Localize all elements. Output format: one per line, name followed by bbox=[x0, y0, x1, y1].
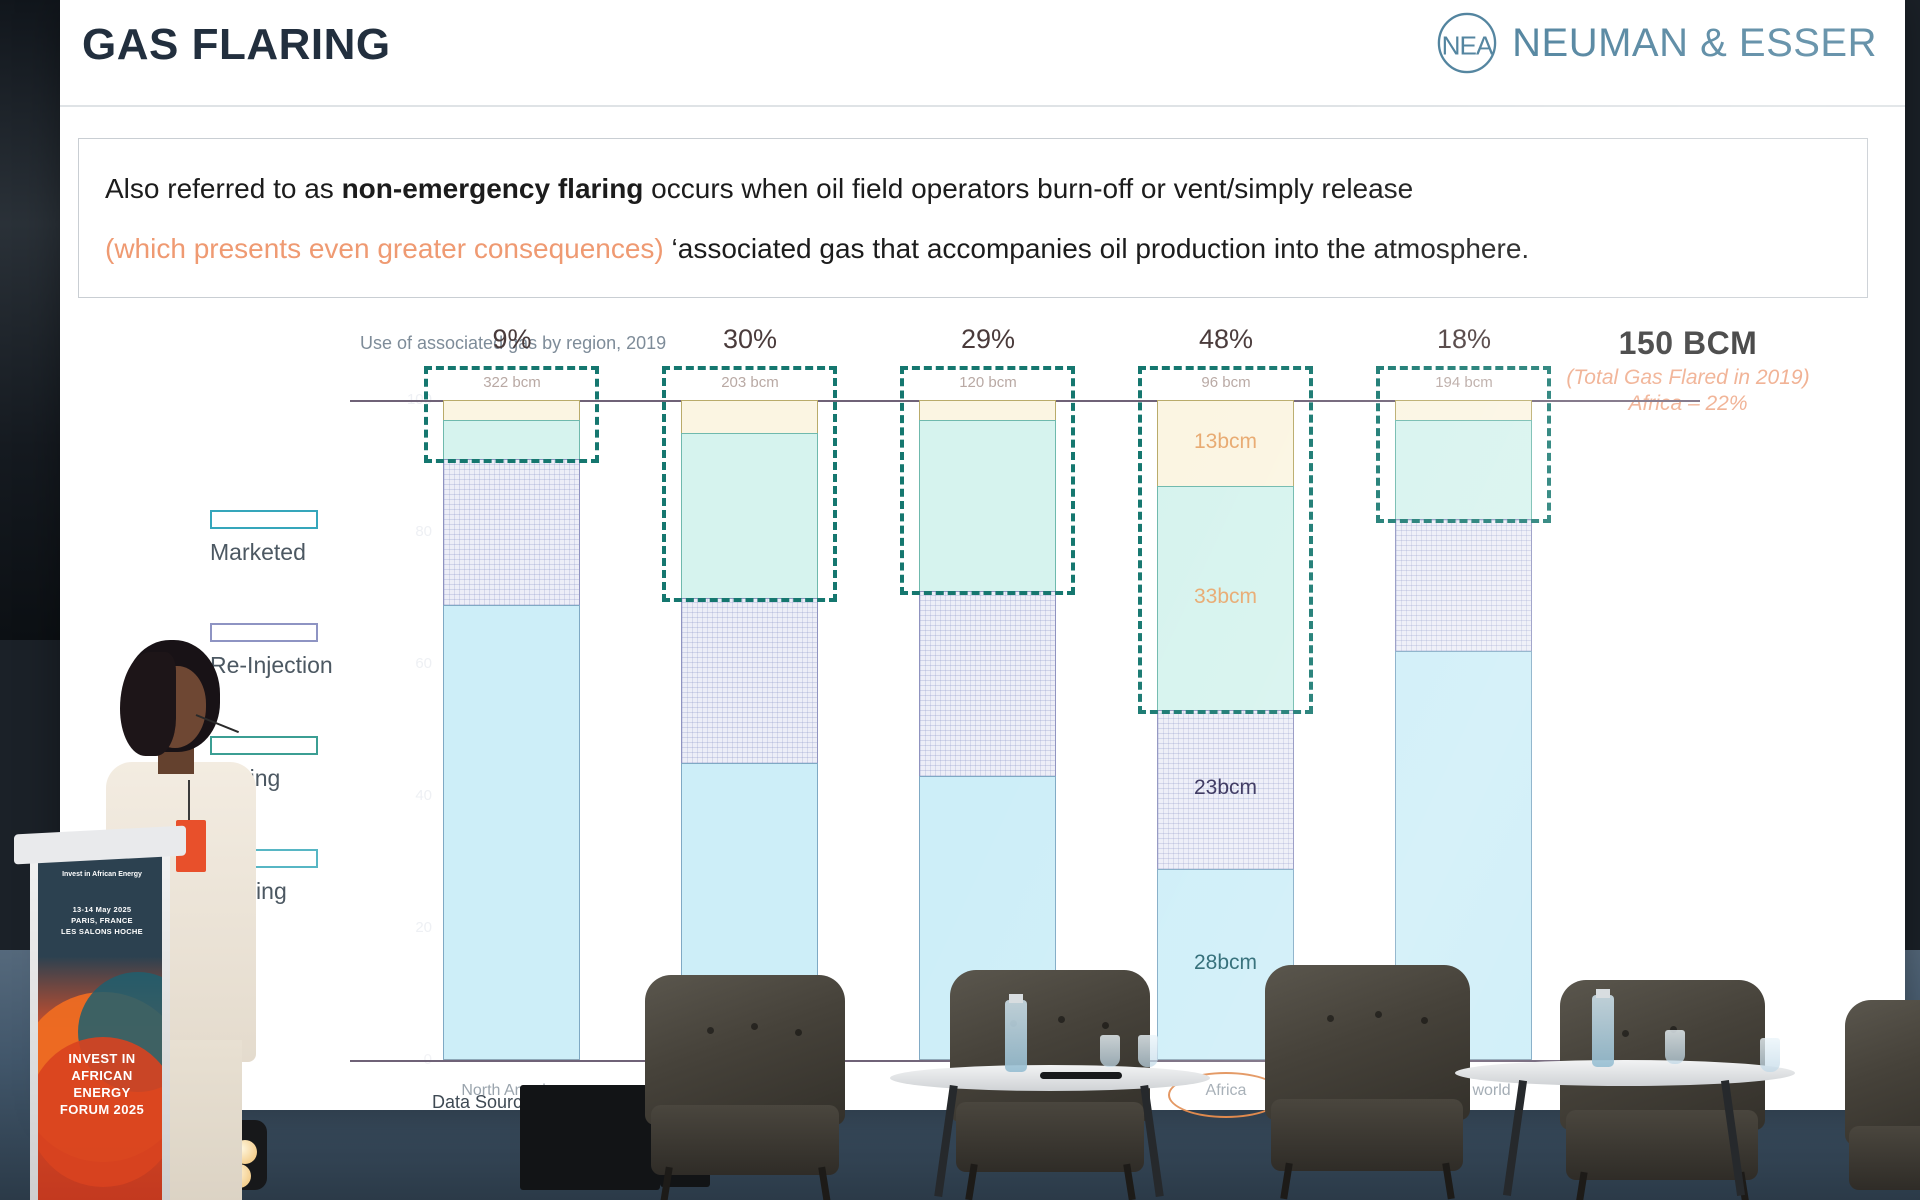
statement-line-1: Also referred to as non-emergency flarin… bbox=[105, 159, 1841, 219]
header-divider bbox=[60, 105, 1905, 107]
statement-box: Also referred to as non-emergency flarin… bbox=[78, 138, 1868, 298]
drinking-glass bbox=[1138, 1035, 1158, 1067]
drinking-glass bbox=[1760, 1038, 1780, 1072]
drinking-glass bbox=[1665, 1030, 1685, 1064]
bar-total-bcm-label: 194 bcm bbox=[1364, 374, 1564, 391]
bottle-cap bbox=[1596, 989, 1610, 998]
bar-total-bcm-label: 96 bcm bbox=[1126, 374, 1326, 391]
bar-total-bcm-label: 203 bcm bbox=[650, 374, 850, 391]
podium-event-title: INVEST IN AFRICAN ENERGY FORUM 2025 bbox=[50, 1050, 154, 1118]
bar-group bbox=[412, 400, 612, 1060]
statement-line2-highlight: (which presents even greater consequence… bbox=[105, 233, 664, 264]
slide-header: GAS FLARING NEA NEUMAN & ESSER bbox=[60, 0, 1905, 105]
water-bottle bbox=[1592, 995, 1614, 1067]
legend-swatch-icon bbox=[210, 510, 318, 529]
drinking-glass bbox=[1100, 1035, 1120, 1067]
armchair bbox=[645, 975, 845, 1200]
page-title: GAS FLARING bbox=[82, 20, 391, 70]
bar-segment-re-injection: 23bcm bbox=[1157, 710, 1294, 868]
podium-event-logo: Invest in African Energy bbox=[54, 870, 150, 879]
statement-line-2: (which presents even greater consequence… bbox=[105, 219, 1841, 279]
nea-logo: NEA NEUMAN & ESSER bbox=[1436, 12, 1877, 74]
microphone bbox=[1040, 1072, 1122, 1079]
flaring-venting-highlight-box bbox=[662, 366, 837, 602]
armchair bbox=[1265, 965, 1470, 1200]
segment-value-label: 23bcm bbox=[1158, 776, 1293, 800]
logo-wordmark: NEUMAN & ESSER bbox=[1512, 21, 1877, 66]
bottle-cap bbox=[1009, 994, 1023, 1003]
bar-total-bcm-label: 322 bcm bbox=[412, 374, 612, 391]
kpi-value: 150 BCM bbox=[1523, 325, 1853, 362]
statement-line1-part1: Also referred to as bbox=[105, 173, 342, 204]
bar-total-bcm-label: 120 bcm bbox=[888, 374, 1088, 391]
bar-segment-re-injection bbox=[681, 598, 818, 763]
bar-segment-re-injection bbox=[1395, 519, 1532, 651]
bar-percentage-label: 29% bbox=[888, 324, 1088, 355]
bar-segment-re-injection bbox=[919, 591, 1056, 776]
flaring-venting-highlight-box bbox=[900, 366, 1075, 595]
stacked-bar-chart: 100806040200322 bcm9%North America203 bc… bbox=[360, 400, 1690, 1060]
svg-text:NEA: NEA bbox=[1442, 31, 1494, 61]
water-bottle bbox=[1005, 1000, 1027, 1072]
bar-segment-marketed bbox=[443, 605, 580, 1060]
podium: Invest in African Energy 13-14 May 2025 … bbox=[20, 830, 180, 1200]
bar-percentage-label: 18% bbox=[1364, 324, 1564, 355]
nea-circle-icon: NEA bbox=[1436, 12, 1498, 74]
side-table bbox=[890, 1065, 1210, 1200]
podium-event-details: 13-14 May 2025 PARIS, FRANCE LES SALONS … bbox=[54, 904, 150, 937]
armchair bbox=[1845, 1000, 1920, 1200]
statement-line1-part2: occurs when oil field operators burn-off… bbox=[643, 173, 1413, 204]
statement-line2-rest: ‘associated gas that accompanies oil pro… bbox=[664, 233, 1529, 264]
bar-percentage-label: 30% bbox=[650, 324, 850, 355]
side-table bbox=[1455, 1060, 1795, 1200]
stacked-bar bbox=[443, 400, 580, 1060]
statement-line1-bold: non-emergency flaring bbox=[342, 173, 644, 204]
presentation-slide: GAS FLARING NEA NEUMAN & ESSER Also refe… bbox=[60, 0, 1905, 1110]
bar-percentage-label: 48% bbox=[1126, 324, 1326, 355]
bar-segment-re-injection bbox=[443, 459, 580, 604]
bar-percentage-label: 9% bbox=[412, 324, 612, 355]
kpi-subtitle: (Total Gas Flared in 2019) bbox=[1523, 366, 1853, 390]
flaring-venting-highlight-box bbox=[1138, 366, 1313, 714]
floor-speaker-box bbox=[520, 1085, 660, 1190]
